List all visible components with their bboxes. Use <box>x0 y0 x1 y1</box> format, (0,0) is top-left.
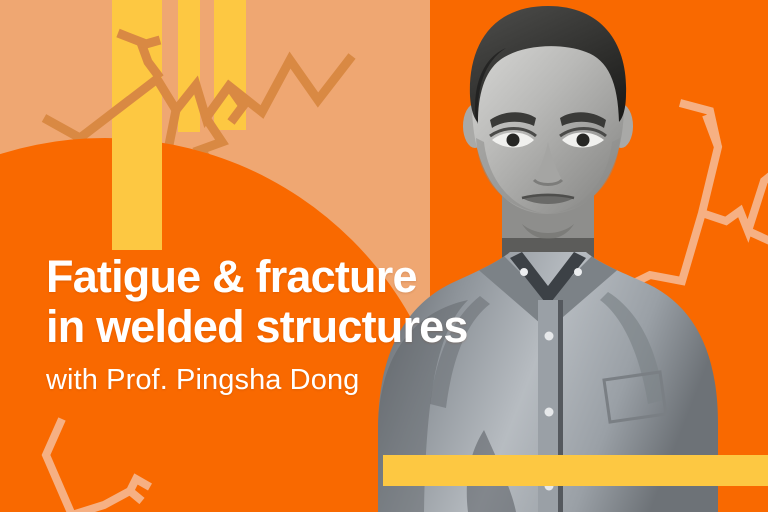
poster-canvas: Fatigue & fracture in welded structures … <box>0 0 768 512</box>
yellow-bar-1-overlay <box>112 138 162 250</box>
bottom-yellow-bar <box>383 455 768 486</box>
poster-title-line-1: Fatigue & fracture <box>46 252 606 302</box>
poster-subtitle: with Prof. Pingsha Dong <box>46 364 606 396</box>
fracture-crack-bottom-left <box>10 395 200 512</box>
poster-title-line-2: in welded structures <box>46 302 606 352</box>
title-block: Fatigue & fracture in welded structures … <box>46 252 606 396</box>
